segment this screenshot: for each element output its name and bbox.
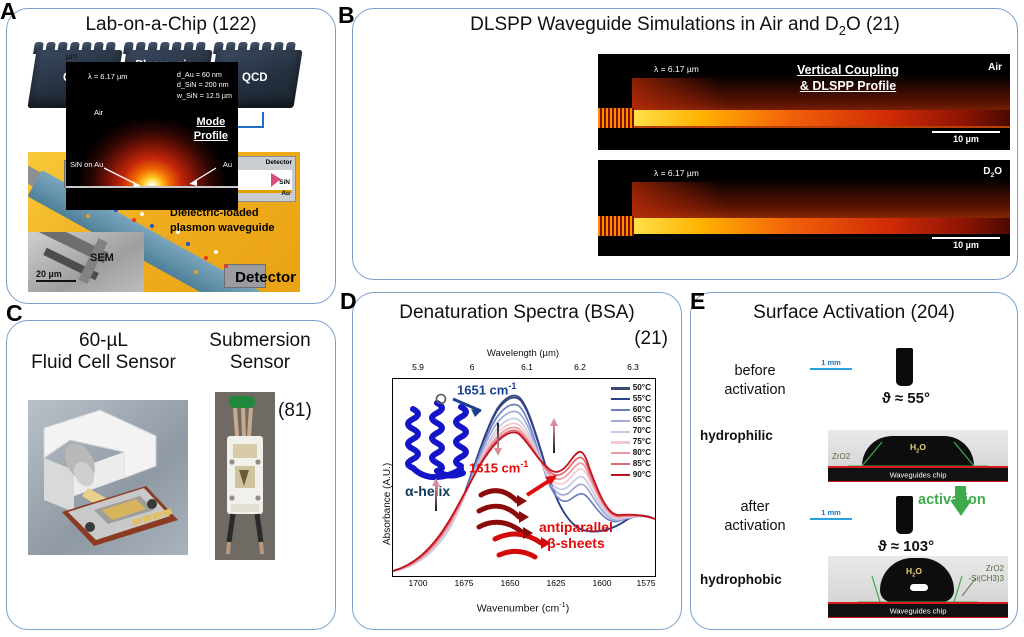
micrograph-detector-label: Detector	[235, 269, 296, 286]
panel-b-title: DLSPP Waveguide Simulations in Air and D…	[352, 14, 1018, 39]
sem-scale-bar: 20 µm	[36, 269, 76, 283]
contact-angle-after: ϑ ≈ 103°	[848, 538, 964, 555]
waveguide-air-simulation: λ = 6.17 µm Air Vertical Coupling & DLSP…	[598, 54, 1010, 150]
trend-arrow-down	[497, 423, 499, 449]
mode-wavelength-label: λ = 6.17 µm	[88, 72, 128, 81]
peak-label-1615: 1615 cm-1	[469, 459, 528, 475]
hydrophilic-label: hydrophilic	[700, 428, 773, 443]
air-wavelength-label: λ = 6.17 µm	[654, 64, 699, 74]
mode-profile-image: SiN on Au Au Air λ = 6.17 µm d_Au = 60 n…	[66, 62, 238, 210]
d2o-wavelength-label: λ = 6.17 µm	[654, 168, 699, 178]
activation-label: activation	[918, 492, 986, 508]
needle-before	[896, 348, 913, 386]
legend-item: 75°C	[611, 437, 651, 448]
scale-bar-after: 1 mm	[810, 508, 852, 520]
panel-label-a: A	[0, 0, 17, 23]
chart-x-tick: 1575	[637, 578, 656, 588]
panel-label-b: B	[338, 4, 355, 27]
chip-block-qcd-label: QCD	[242, 72, 268, 85]
mode-y-unit: µm	[66, 52, 77, 61]
after-activation-label: after activation	[700, 498, 810, 536]
air-medium-label: Air	[988, 62, 1002, 73]
legend-item: 90°C	[611, 470, 651, 481]
panel-e-title: Surface Activation (204)	[690, 302, 1018, 324]
chart-top-axis-title: Wavelength (µm)	[392, 348, 654, 359]
alpha-helix-label: α-helix	[405, 483, 450, 499]
mode-label-au: Au	[223, 160, 232, 169]
panel-label-d: D	[340, 290, 357, 313]
mode-profile-plot: µm SiN on Au Au Air λ = 6.17 µm d_Au = 6…	[40, 52, 240, 237]
legend-item: 50°C	[611, 383, 651, 394]
chart-x-tick: 1650	[501, 578, 520, 588]
panel-label-c: C	[6, 302, 23, 325]
panel-d-reference: (21)	[352, 328, 668, 350]
panel-d-title: Denaturation Spectra (BSA)	[352, 302, 682, 324]
trend-arrow-up-left	[435, 485, 437, 511]
panel-label-e: E	[690, 290, 705, 313]
legend-item: 55°C	[611, 394, 651, 405]
zro2-label-after: ZrO2 -Si(CH3)3	[968, 564, 1004, 584]
trend-arrow-up-right	[553, 425, 555, 453]
chart-top-tick: 6.2	[574, 362, 586, 372]
air-scale-bar: 10 µm	[932, 131, 1000, 145]
zro2-label-before: ZrO2	[832, 452, 850, 462]
legend-item: 85°C	[611, 459, 651, 470]
legend-item: 70°C	[611, 426, 651, 437]
chart-x-tick: 1675	[455, 578, 474, 588]
mode-label-sin-on-au: SiN on Au	[70, 160, 103, 169]
contact-angle-before: ϑ ≈ 55°	[848, 390, 964, 407]
d2o-medium-label: D2O	[983, 166, 1002, 179]
chart-x-axis-title: Wavenumber (cm-1)	[392, 600, 654, 615]
d2o-scale-bar: 10 µm	[932, 237, 1000, 251]
mode-label-air: Air	[94, 108, 103, 117]
chart-top-tick: 6.3	[627, 362, 639, 372]
chart-top-tick: 5.9	[412, 362, 424, 372]
panel-c-title-right: Submersion Sensor	[190, 330, 330, 374]
submersion-sensor-photo	[215, 392, 275, 560]
panel-a-title: Lab-on-a-Chip (122)	[6, 14, 336, 36]
legend-item: 80°C	[611, 448, 651, 459]
air-simulation-caption: Vertical Coupling & DLSPP Profile	[758, 62, 938, 95]
chart-x-tick: 1700	[409, 578, 428, 588]
waveguide-chip-bar-after: Waveguides chip	[828, 602, 1008, 618]
peak-1615-arrow	[525, 471, 565, 499]
mode-profile-caption: Mode Profile	[194, 116, 228, 144]
peak-1651-arrow	[451, 395, 491, 421]
chart-x-tick: 1625	[547, 578, 566, 588]
beta-sheets-label: antiparallel β-sheets	[539, 519, 613, 551]
needle-after	[896, 496, 913, 534]
chart-legend: 50°C 55°C 60°C 65°C 70°C 75°C 80°C 85°C …	[611, 383, 651, 480]
hydrophobic-label: hydrophobic	[700, 572, 782, 587]
sem-label: SEM	[90, 252, 114, 264]
legend-item: 65°C	[611, 415, 651, 426]
panel-c-reference: (81)	[278, 400, 312, 422]
panel-c-title-left: 60-µL Fluid Cell Sensor	[16, 330, 191, 374]
chip-photo-before: H2O ZrO2 Waveguides chip	[828, 430, 1008, 482]
fluid-cell-sensor-photo	[28, 400, 188, 555]
chart-top-tick: 6.1	[521, 362, 533, 372]
sem-inset: SEM 20 µm	[28, 232, 144, 292]
waveguide-d2o-simulation: λ = 6.17 µm D2O 10 µm	[598, 160, 1010, 256]
legend-item: 60°C	[611, 405, 651, 416]
mode-parameters: d_Au = 60 nm d_SiN = 200 nm w_SiN = 12.5…	[177, 70, 232, 101]
scale-bar-before: 1 mm	[810, 358, 852, 370]
chip-photo-after: H2O ZrO2 -Si(CH3)3 Waveguides chip	[828, 556, 1008, 618]
chart-x-tick: 1600	[593, 578, 612, 588]
before-activation-label: before activation	[700, 362, 810, 400]
denaturation-spectra-chart: α-helix antiparallel β-sheets 1651 cm-1 …	[392, 378, 656, 577]
waveguide-chip-bar-before: Waveguides chip	[828, 466, 1008, 482]
chart-top-tick: 6	[470, 362, 475, 372]
